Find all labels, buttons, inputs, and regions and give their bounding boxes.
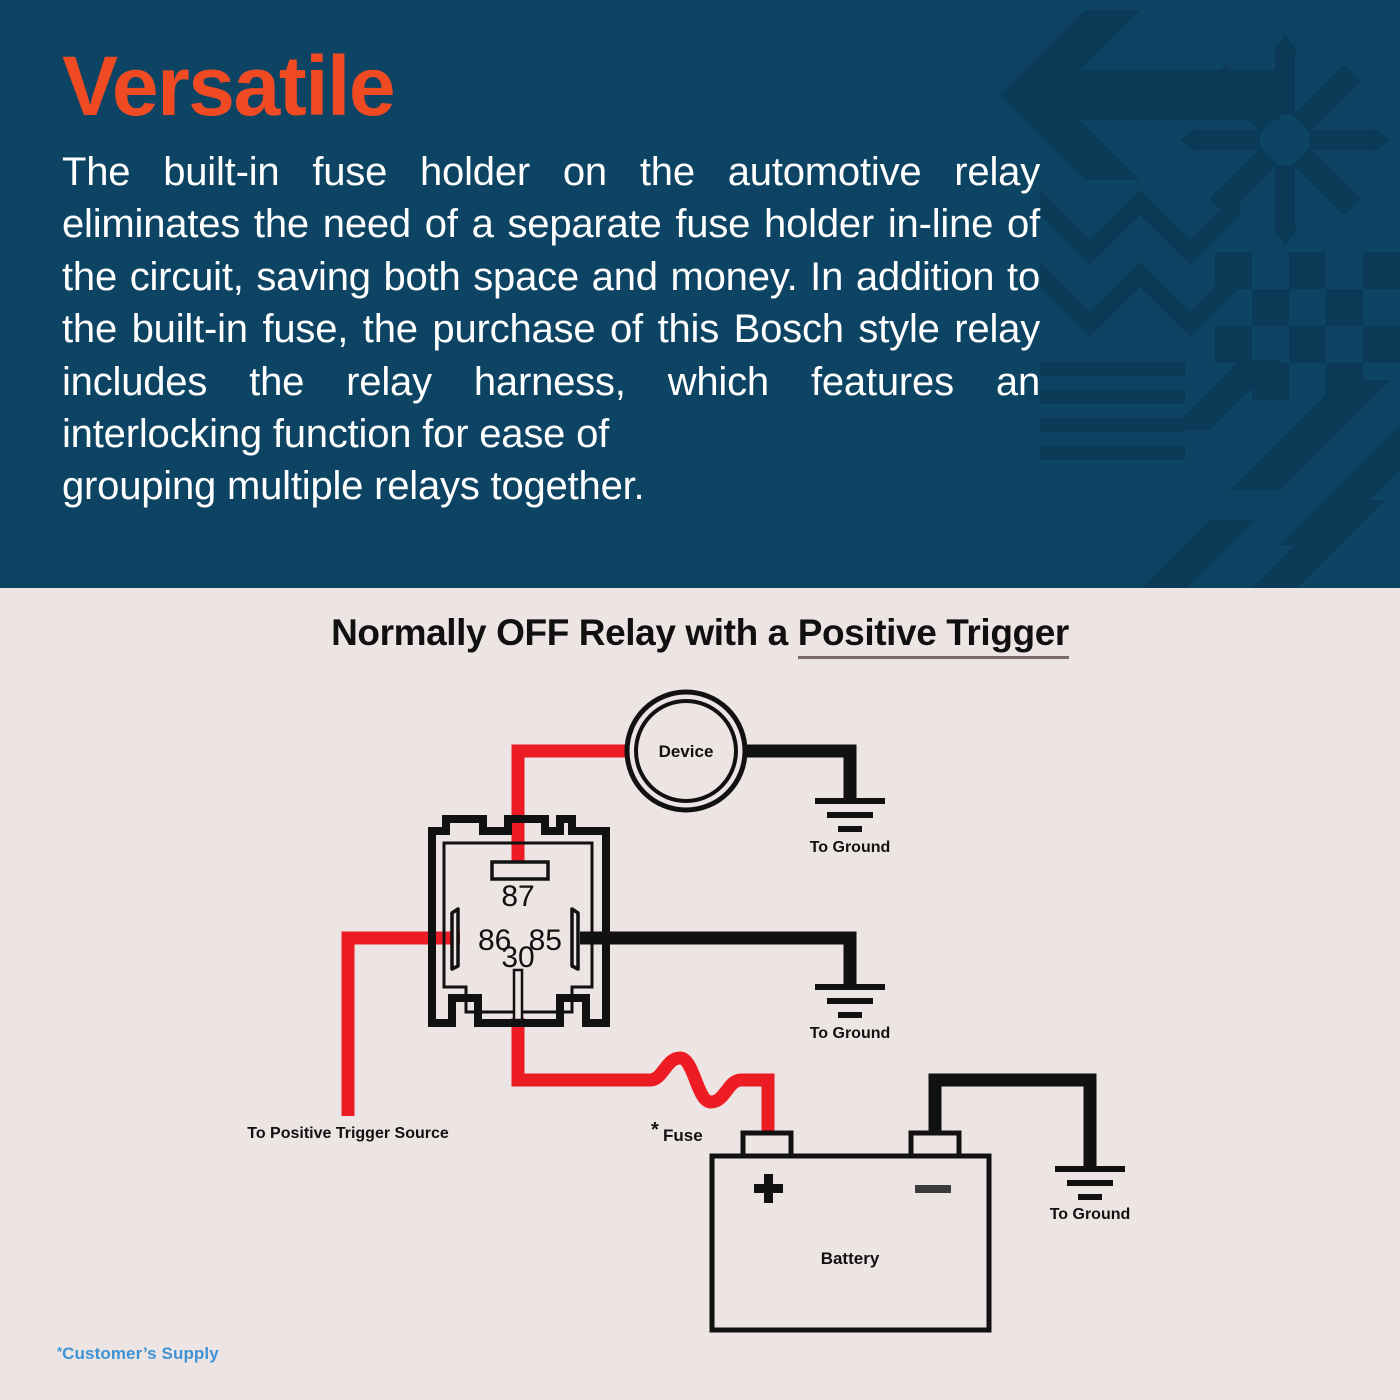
battery-symbol: Battery	[712, 1133, 989, 1330]
relay-terminal-30: 30	[501, 941, 534, 1020]
ground-symbol-battery	[1055, 1169, 1125, 1197]
fuse-label: Fuse	[663, 1126, 703, 1145]
hero-body-text: The built-in fuse holder on the automoti…	[62, 146, 1040, 513]
hero-text-block: Versatile The built-in fuse holder on th…	[0, 0, 1040, 513]
hero-section: Versatile The built-in fuse holder on th…	[0, 0, 1400, 588]
hero-body-main: The built-in fuse holder on the automoti…	[62, 150, 1040, 456]
wire-85-to-ground	[580, 938, 850, 986]
ground-label-battery: To Ground	[1050, 1206, 1131, 1223]
ground-symbol-device	[815, 801, 885, 829]
relay-terminal-87: 87	[492, 862, 548, 913]
relay-terminal-87-label: 87	[501, 880, 534, 913]
relay-terminal-85: 85	[529, 909, 578, 969]
footnote-text: Customer’s Supply	[62, 1344, 219, 1363]
decorative-geometric-pattern	[980, 0, 1400, 588]
ground-label-85: To Ground	[810, 1025, 891, 1042]
footnote-customers-supply: *Customer’s Supply	[57, 1344, 219, 1364]
infographic-page: Versatile The built-in fuse holder on th…	[0, 0, 1400, 1400]
device-symbol: Device	[627, 692, 745, 810]
fuse-label-group: * Fuse	[651, 1119, 703, 1145]
hero-title: Versatile	[62, 44, 1040, 128]
device-label: Device	[659, 742, 714, 761]
hero-body-last-line: grouping multiple relays together.	[62, 460, 1040, 512]
battery-negative-symbol	[915, 1185, 951, 1193]
wire-fuse-squiggle	[650, 1058, 741, 1102]
ground-label-device: To Ground	[810, 839, 891, 856]
wire-30-to-fuse	[518, 1018, 650, 1080]
wire-87-to-device	[518, 751, 630, 868]
trigger-source-label: To Positive Trigger Source	[247, 1125, 449, 1142]
ground-symbol-85	[815, 987, 885, 1015]
wiring-diagram-section: Normally OFF Relay with a Positive Trigg…	[0, 588, 1400, 1400]
battery-label: Battery	[821, 1249, 880, 1268]
relay-terminal-30-label: 30	[501, 941, 534, 974]
wire-device-to-ground	[742, 751, 850, 800]
relay-wiring-schematic: Device 87 86	[0, 588, 1400, 1400]
wire-fuse-to-battery	[741, 1080, 768, 1133]
fuse-asterisk: *	[651, 1119, 659, 1141]
